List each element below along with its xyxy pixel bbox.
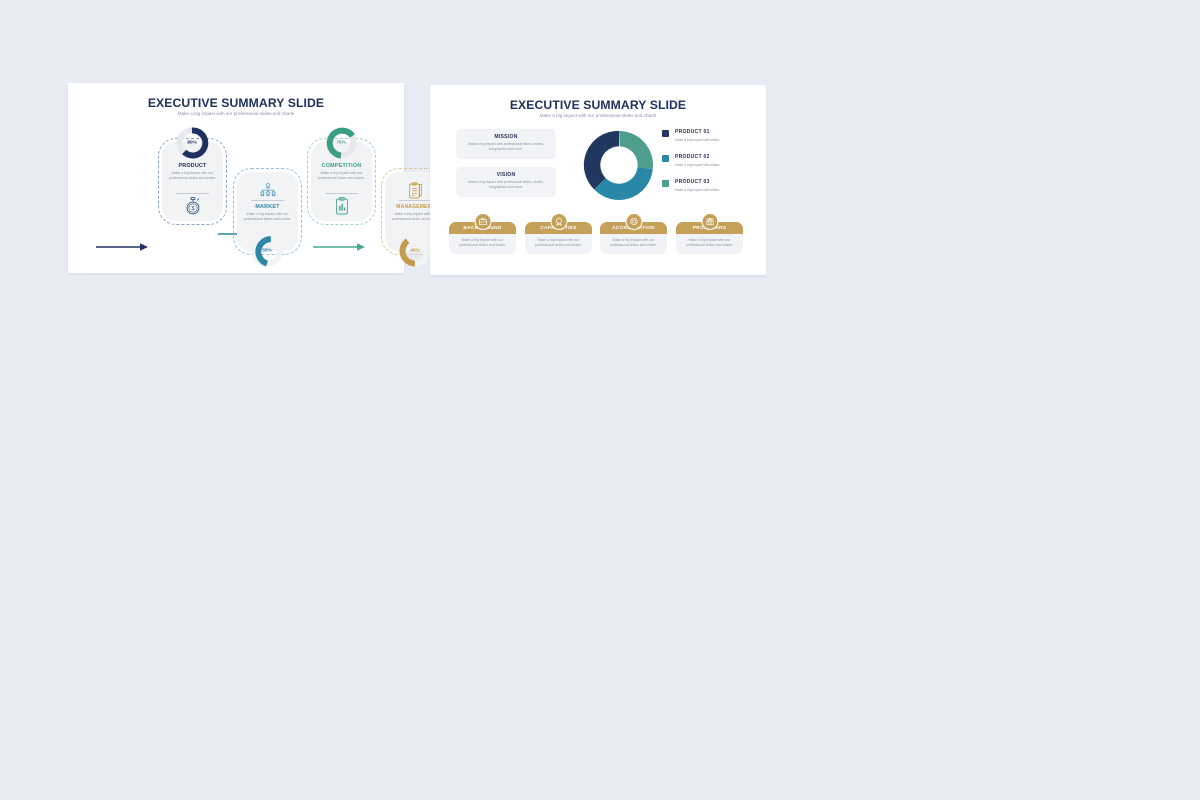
card-accreditation[interactable]: ACCREDITATION Make a big impact with our… — [600, 222, 667, 254]
card-product-body: Make a big impact with our professional … — [166, 171, 219, 182]
slide-right-title: EXECUTIVE SUMMARY SLIDE — [430, 98, 766, 112]
arrow-market-to-management — [313, 242, 365, 252]
mission-title: MISSION — [456, 134, 556, 140]
legend-item-product-01[interactable]: PRODUCT 01 Make a big impact with slides… — [662, 129, 762, 154]
card-product[interactable]: PRODUCT Make a big impact with our profe… — [162, 142, 223, 221]
card-capabilities-body: Make a big impact with our professional … — [525, 234, 592, 254]
vision-title: VISION — [456, 172, 556, 178]
card-competition-divider — [325, 193, 358, 194]
slide-left-subtitle: Make a big impact with our professional … — [68, 111, 404, 116]
gauge-product-value: 80% — [175, 141, 209, 146]
mission-body: Make a big impact with professional slid… — [461, 142, 551, 153]
card-promoters-body: Make a big impact with our professional … — [676, 234, 743, 254]
card-background-body: Make a big impact with our professional … — [449, 234, 516, 254]
gauge-market: 55% — [250, 234, 284, 268]
vision-box[interactable]: VISION Make a big impact with profession… — [456, 167, 556, 197]
gauge-management-value: 40% — [398, 249, 432, 254]
podium-group-icon — [701, 213, 718, 230]
badge-star-icon — [550, 213, 567, 230]
card-background[interactable]: BACKGROUND Make a big impact with our pr… — [449, 222, 516, 254]
card-market[interactable]: MARKET Make a big impact with our profes… — [237, 172, 298, 251]
gauge-product: 80% — [175, 126, 209, 160]
card-competition-title: COMPETITION — [311, 163, 372, 169]
card-market-title: MARKET — [237, 204, 298, 210]
card-promoters[interactable]: PROMOTERS Make a big impact with our pro… — [676, 222, 743, 254]
card-competition-body: Make a big impact with our professional … — [315, 171, 368, 182]
legend-item-name: PRODUCT 01 — [675, 129, 710, 135]
gauge-competition: 70% — [324, 126, 358, 160]
legend-swatch-icon — [662, 180, 669, 187]
clipboard-chart-icon — [311, 197, 372, 220]
legend-swatch-icon — [662, 130, 669, 137]
gauge-competition-value: 70% — [324, 141, 358, 146]
card-product-title: PRODUCT — [162, 163, 223, 169]
legend-item-name: PRODUCT 02 — [675, 154, 710, 160]
donut-legend: PRODUCT 01 Make a big impact with slides… — [662, 129, 762, 204]
svg-text:$: $ — [191, 206, 194, 212]
vision-body: Make a big impact with professional slid… — [461, 180, 551, 191]
arrow-product-to-market — [96, 242, 148, 252]
slide-right-subtitle: Make a big impact with our professional … — [430, 113, 766, 118]
screenshot-canvas: EXECUTIVE SUMMARY SLIDE Make a big impac… — [0, 0, 1200, 800]
stopwatch-money-icon: $ — [162, 197, 223, 220]
card-capabilities[interactable]: CAPABILITIES Make a big impact with our … — [525, 222, 592, 254]
medal-seal-icon — [625, 213, 642, 230]
card-product-divider — [176, 193, 209, 194]
card-market-divider — [251, 200, 284, 201]
card-capabilities-header: CAPABILITIES — [525, 222, 592, 234]
slide-left[interactable]: EXECUTIVE SUMMARY SLIDE Make a big impac… — [68, 83, 404, 273]
card-promoters-header: PROMOTERS — [676, 222, 743, 234]
legend-item-product-02[interactable]: PRODUCT 02 Make a big impact with slides… — [662, 154, 762, 179]
card-competition[interactable]: COMPETITION Make a big impact with our p… — [311, 142, 372, 221]
card-accreditation-body: Make a big impact with our professional … — [600, 234, 667, 254]
slide-left-title: EXECUTIVE SUMMARY SLIDE — [68, 96, 404, 110]
legend-swatch-icon — [662, 155, 669, 162]
legend-item-name: PRODUCT 03 — [675, 179, 710, 185]
card-management-divider — [399, 200, 432, 201]
legend-item-desc: Make a big impact with slides. — [675, 163, 720, 167]
slide-right[interactable]: EXECUTIVE SUMMARY SLIDE Make a big impac… — [430, 85, 766, 275]
gauge-market-value: 55% — [250, 249, 284, 254]
card-background-header: BACKGROUND — [449, 222, 516, 234]
gauge-management: 40% — [398, 234, 432, 268]
mission-box[interactable]: MISSION Make a big impact with professio… — [456, 129, 556, 159]
legend-item-desc: Make a big impact with slides. — [675, 138, 720, 142]
legend-item-desc: Make a big impact with slides. — [675, 188, 720, 192]
briefcase-icon — [474, 213, 491, 230]
product-donut-chart — [582, 128, 656, 202]
card-accreditation-header: ACCREDITATION — [600, 222, 667, 234]
card-market-body: Make a big impact with our professional … — [241, 212, 294, 223]
legend-item-product-03[interactable]: PRODUCT 03 Make a big impact with slides… — [662, 179, 762, 204]
